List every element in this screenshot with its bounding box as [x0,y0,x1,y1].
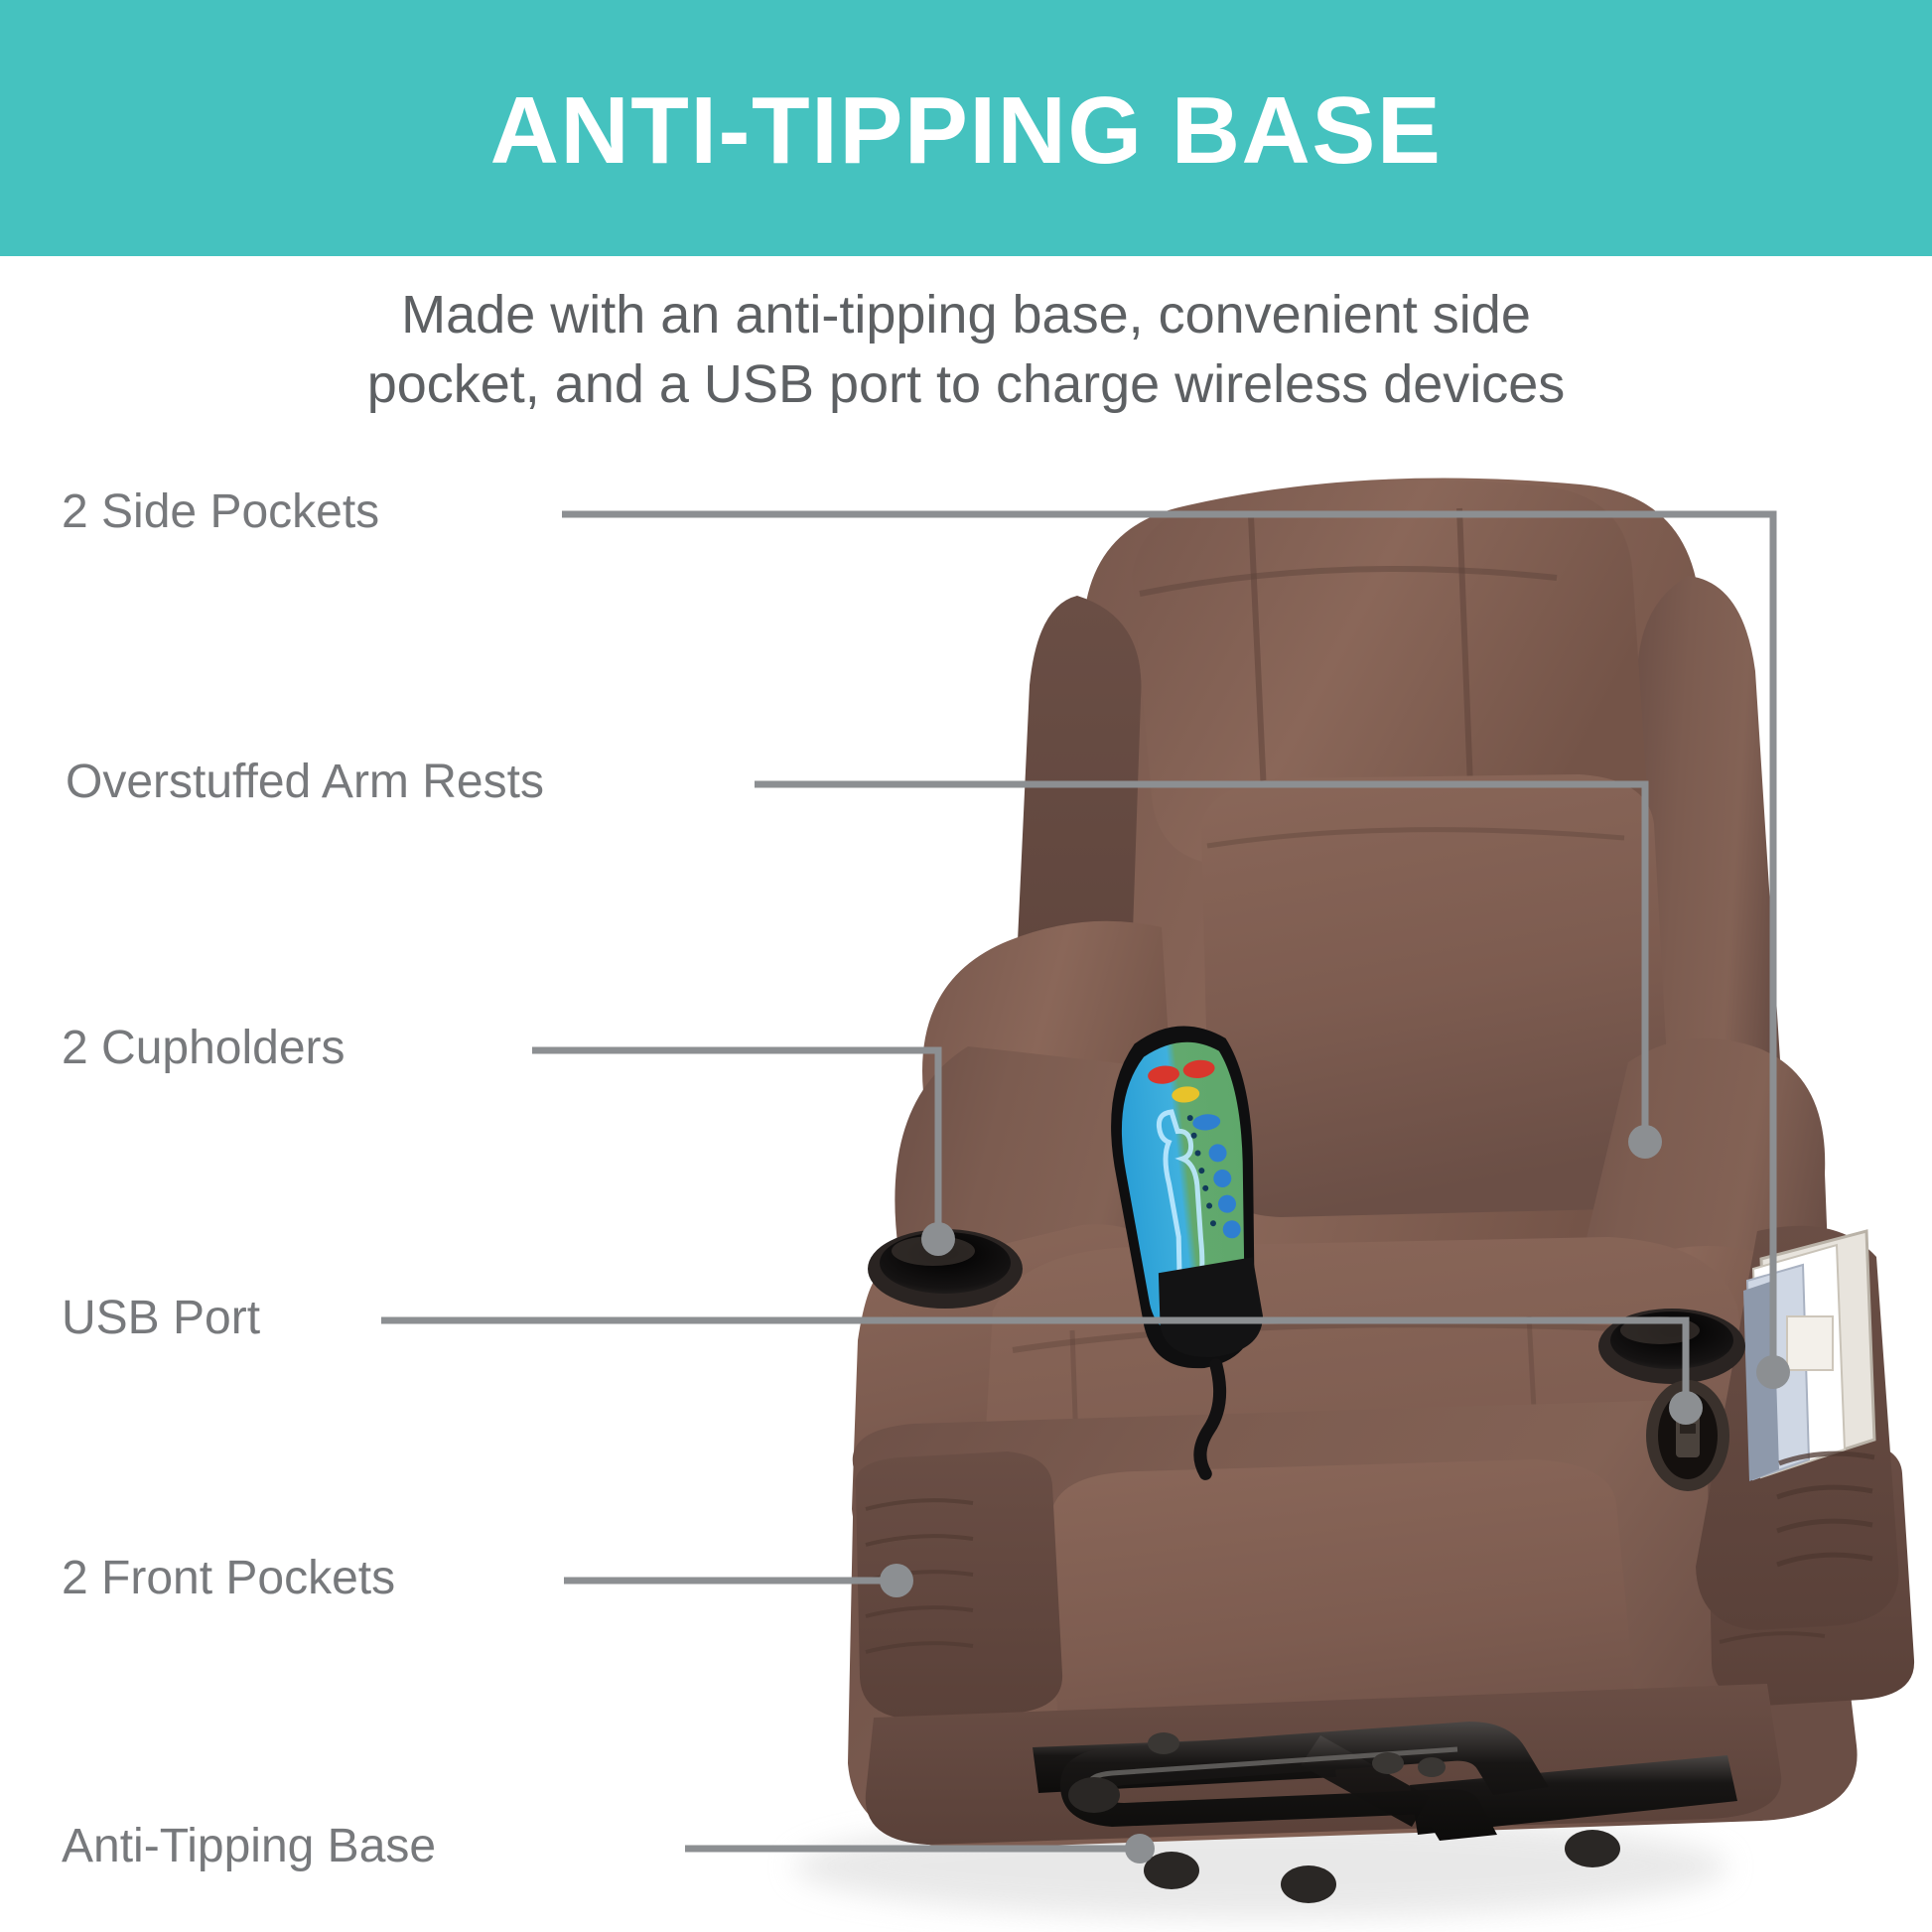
callout-label-front-pockets: 2 Front Pockets [62,1555,395,1602]
callout-label-side-pockets: 2 Side Pockets [62,488,379,536]
front-pocket-left [855,1451,1062,1720]
callout-label-arm-rests: Overstuffed Arm Rests [66,759,544,806]
recliner-chair-illustration [0,0,1932,1932]
cupholder-left [868,1229,1023,1309]
usb-port [1646,1380,1729,1491]
lumbar-cushion [1201,774,1672,1217]
side-pocket-contents [1743,1231,1874,1481]
callout-label-anti-tipping: Anti-Tipping Base [62,1823,436,1870]
callout-label-usb-port: USB Port [62,1295,260,1342]
cupholder-right [1598,1309,1745,1384]
callout-label-cupholders: 2 Cupholders [62,1025,345,1072]
product-infographic: ANTI-TIPPING BASE Made with an anti-tipp… [0,0,1932,1932]
